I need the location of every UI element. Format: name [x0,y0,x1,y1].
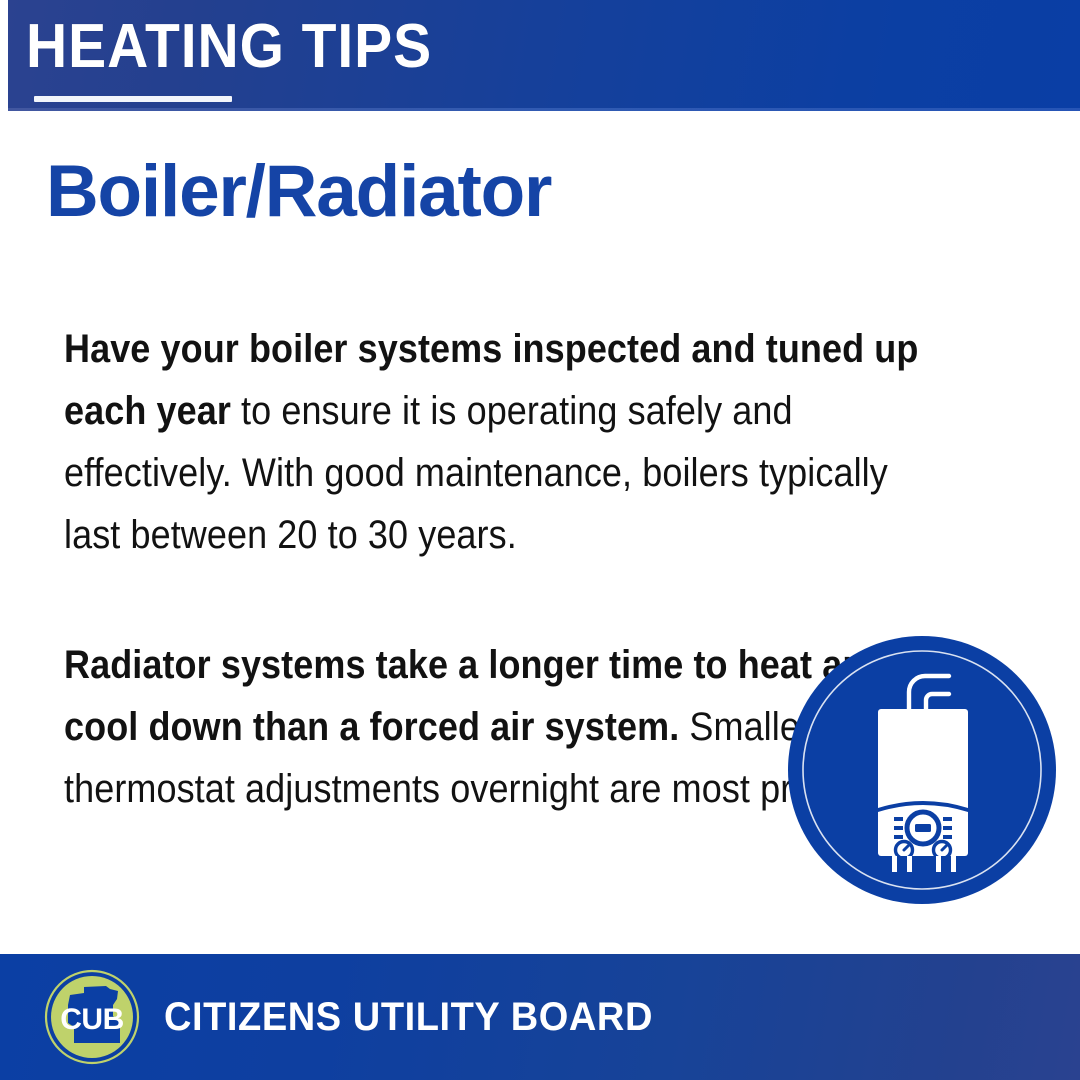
boiler-icon-dial-center [915,824,931,832]
footer-wordmark: CITIZENS UTILITY BOARD [164,995,653,1040]
boiler-icon-vent-left [894,817,903,839]
main-content: Boiler/Radiator Have your boiler systems… [0,111,1080,954]
page-header-title: HEATING TIPS [26,16,432,78]
boiler-icon-body [878,709,968,856]
boiler-icon [786,634,1058,906]
footer-brand-lockup: CUB CITIZENS UTILITY BOARD [44,954,679,1080]
footer-bar: CUB CITIZENS UTILITY BOARD [0,954,1080,1080]
cub-logo-icon: CUB [44,969,140,1065]
page-title: Boiler/Radiator [46,155,551,228]
boiler-paragraph: Have your boiler systems inspected and t… [64,318,953,566]
cub-logo-letters: CUB [60,1003,124,1036]
poster-canvas: HEATING TIPS Boiler/Radiator Have your b… [0,0,1080,1080]
header-underline-rule [34,96,232,102]
boiler-icon-vent-right [943,817,952,839]
header-bar: HEATING TIPS [8,0,1080,111]
